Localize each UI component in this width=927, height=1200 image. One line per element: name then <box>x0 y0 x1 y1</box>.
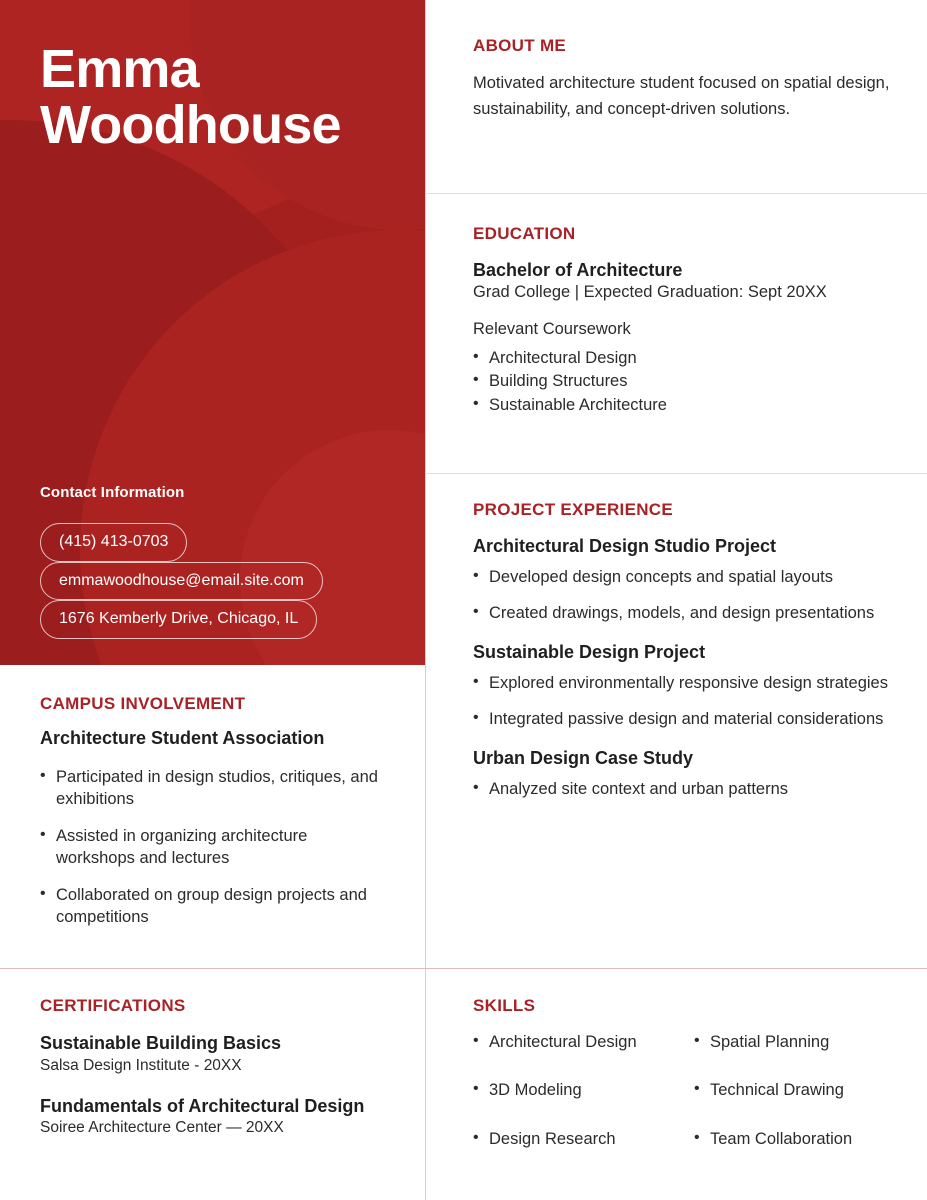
coursework-label: Relevant Coursework <box>473 320 899 339</box>
email-row: emmawoodhouse@email.site.com <box>40 562 385 601</box>
list-item: Spatial Planning <box>694 1031 899 1053</box>
skills-column-left: Architectural Design 3D Modeling Design … <box>473 1031 678 1176</box>
campus-involvement-section: CAMPUS INVOLVEMENT Architecture Student … <box>0 665 425 929</box>
list-item: 3D Modeling <box>473 1079 678 1101</box>
address-pill[interactable]: 1676 Kemberly Drive, Chicago, IL <box>40 600 317 639</box>
certifications-heading: CERTIFICATIONS <box>40 996 385 1016</box>
about-me-heading: ABOUT ME <box>473 36 899 56</box>
education-heading: EDUCATION <box>473 224 899 244</box>
list-item: Team Collaboration <box>694 1128 899 1150</box>
list-item: Building Structures <box>473 370 899 392</box>
certification-name: Sustainable Building Basics <box>40 1032 385 1055</box>
list-item: Architectural Design <box>473 1031 678 1053</box>
about-me-section: ABOUT ME Motivated architecture student … <box>426 36 927 122</box>
last-name: Woodhouse <box>40 98 385 154</box>
list-item: Design Research <box>473 1128 678 1150</box>
project-bullet-list: Explored environmentally responsive desi… <box>473 672 899 731</box>
skills-heading: SKILLS <box>473 996 899 1016</box>
campus-involvement-heading: CAMPUS INVOLVEMENT <box>40 694 385 714</box>
phone-row: (415) 413-0703 <box>40 523 385 562</box>
about-me-text: Motivated architecture student focused o… <box>473 71 899 122</box>
column-divider <box>425 0 426 1200</box>
project-entry: Sustainable Design Project Explored envi… <box>473 642 899 731</box>
list-item: Assisted in organizing architecture work… <box>40 825 385 870</box>
certification-entry: Sustainable Building Basics Salsa Design… <box>40 1032 385 1075</box>
degree-title: Bachelor of Architecture <box>473 260 899 281</box>
list-item: Sustainable Architecture <box>473 394 899 416</box>
project-experience-section: PROJECT EXPERIENCE Architectural Design … <box>426 500 927 817</box>
certifications-section: CERTIFICATIONS Sustainable Building Basi… <box>0 968 425 1137</box>
list-item: Integrated passive design and material c… <box>473 708 899 730</box>
section-divider-about-education <box>425 193 927 194</box>
header-panel: Emma Woodhouse Contact Information (415)… <box>0 0 425 665</box>
project-title: Architectural Design Studio Project <box>473 536 899 557</box>
project-entry: Urban Design Case Study Analyzed site co… <box>473 748 899 800</box>
coursework-list: Architectural Design Building Structures… <box>473 347 899 416</box>
list-item: Technical Drawing <box>694 1079 899 1101</box>
contact-heading: Contact Information <box>40 484 385 501</box>
left-column: CAMPUS INVOLVEMENT Architecture Student … <box>0 665 425 943</box>
project-bullet-list: Developed design concepts and spatial la… <box>473 566 899 625</box>
list-item: Developed design concepts and spatial la… <box>473 566 899 588</box>
list-item: Architectural Design <box>473 347 899 369</box>
list-item: Analyzed site context and urban patterns <box>473 778 899 800</box>
section-divider-education-projects <box>425 473 927 474</box>
project-experience-heading: PROJECT EXPERIENCE <box>473 500 899 520</box>
resume-page: Emma Woodhouse Contact Information (415)… <box>0 0 927 1200</box>
certification-issuer: Salsa Design Institute - 20XX <box>40 1057 385 1075</box>
certification-issuer: Soiree Architecture Center — 20XX <box>40 1119 385 1137</box>
school-line: Grad College | Expected Graduation: Sept… <box>473 283 899 302</box>
project-entry: Architectural Design Studio Project Deve… <box>473 536 899 625</box>
skills-section: SKILLS Architectural Design 3D Modeling … <box>426 996 927 1176</box>
section-divider-bottom <box>0 968 927 969</box>
education-section: EDUCATION Bachelor of Architecture Grad … <box>426 224 927 417</box>
list-item: Collaborated on group design projects an… <box>40 884 385 929</box>
project-bullet-list: Analyzed site context and urban patterns <box>473 778 899 800</box>
address-row: 1676 Kemberly Drive, Chicago, IL <box>40 600 385 639</box>
campus-organization-name: Architecture Student Association <box>40 728 385 749</box>
certification-entry: Fundamentals of Architectural Design Soi… <box>40 1095 385 1138</box>
candidate-name: Emma Woodhouse <box>40 42 385 153</box>
list-item: Explored environmentally responsive desi… <box>473 672 899 694</box>
list-item: Participated in design studios, critique… <box>40 766 385 811</box>
first-name: Emma <box>40 42 385 98</box>
phone-pill[interactable]: (415) 413-0703 <box>40 523 187 562</box>
contact-section: Contact Information (415) 413-0703 emmaw… <box>40 484 385 665</box>
skills-column-right: Spatial Planning Technical Drawing Team … <box>694 1031 899 1176</box>
list-item: Created drawings, models, and design pre… <box>473 602 899 624</box>
project-title: Sustainable Design Project <box>473 642 899 663</box>
email-pill[interactable]: emmawoodhouse@email.site.com <box>40 562 323 601</box>
project-title: Urban Design Case Study <box>473 748 899 769</box>
campus-bullet-list: Participated in design studios, critique… <box>40 766 385 929</box>
certification-name: Fundamentals of Architectural Design <box>40 1095 385 1118</box>
skills-grid: Architectural Design 3D Modeling Design … <box>473 1031 899 1176</box>
